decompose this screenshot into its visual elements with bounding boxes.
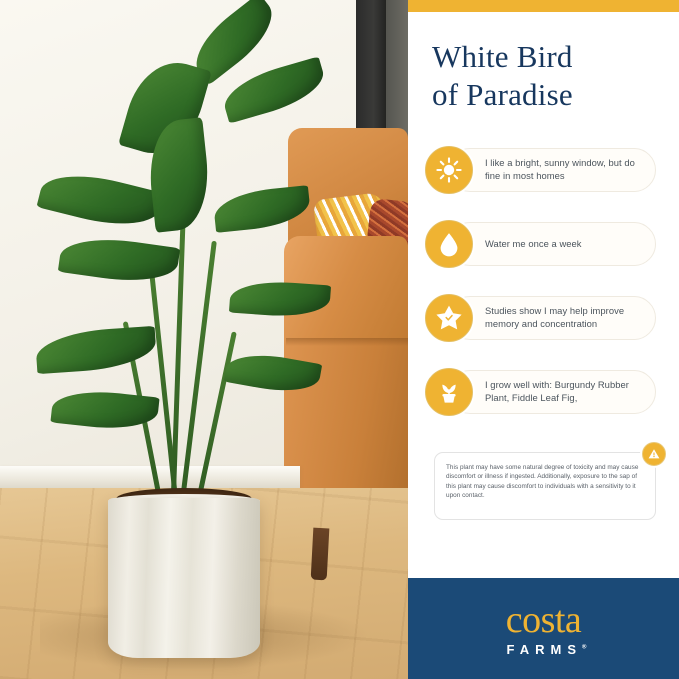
- white-planter: [108, 498, 260, 658]
- fact-pill: Water me once a week: [448, 222, 656, 266]
- sofa-leg: [311, 528, 330, 581]
- brand-logo-farms-text: FARMS: [507, 642, 583, 657]
- brand-footer: costa FARMS®: [408, 578, 679, 679]
- fact-pill: I like a bright, sunny window, but do fi…: [448, 148, 656, 192]
- fact-pill: Studies show I may help improve memory a…: [448, 296, 656, 340]
- product-info-card: White Bird of Paradise I like a bright, …: [0, 0, 679, 679]
- product-photo: [0, 0, 408, 679]
- care-facts-list: I like a bright, sunny window, but do fi…: [408, 146, 679, 442]
- registered-trademark-mark: ®: [582, 644, 586, 650]
- water-drop-icon: [425, 220, 473, 268]
- title-line-1: White Bird: [432, 38, 672, 76]
- top-accent-bar: [408, 0, 679, 12]
- list-item: Studies show I may help improve memory a…: [408, 294, 679, 342]
- list-item: I like a bright, sunny window, but do fi…: [408, 146, 679, 194]
- warning-triangle-icon: [642, 442, 666, 466]
- brand-logo-secondary: FARMS®: [501, 642, 587, 657]
- info-panel: White Bird of Paradise I like a bright, …: [408, 0, 679, 679]
- sun-icon: [425, 146, 473, 194]
- brand-logo-primary: costa: [506, 601, 582, 639]
- list-item: I grow well with: Burgundy Rubber Plant,…: [408, 368, 679, 416]
- star-icon: [425, 294, 473, 342]
- page-title: White Bird of Paradise: [432, 38, 672, 114]
- fact-label: I like a bright, sunny window, but do fi…: [485, 157, 645, 182]
- toxicity-disclaimer: This plant may have some natural degree …: [434, 452, 656, 520]
- fact-label: Water me once a week: [485, 238, 582, 251]
- wall-baseboard: [0, 466, 300, 488]
- potted-plant-icon: [425, 368, 473, 416]
- fact-pill: I grow well with: Burgundy Rubber Plant,…: [448, 370, 656, 414]
- fact-label: Studies show I may help improve memory a…: [485, 305, 645, 330]
- fact-label: I grow well with: Burgundy Rubber Plant,…: [485, 379, 645, 404]
- sofa-seam: [286, 338, 408, 346]
- title-line-2: of Paradise: [432, 76, 672, 114]
- disclaimer-text: This plant may have some natural degree …: [435, 453, 655, 501]
- list-item: Water me once a week: [408, 220, 679, 268]
